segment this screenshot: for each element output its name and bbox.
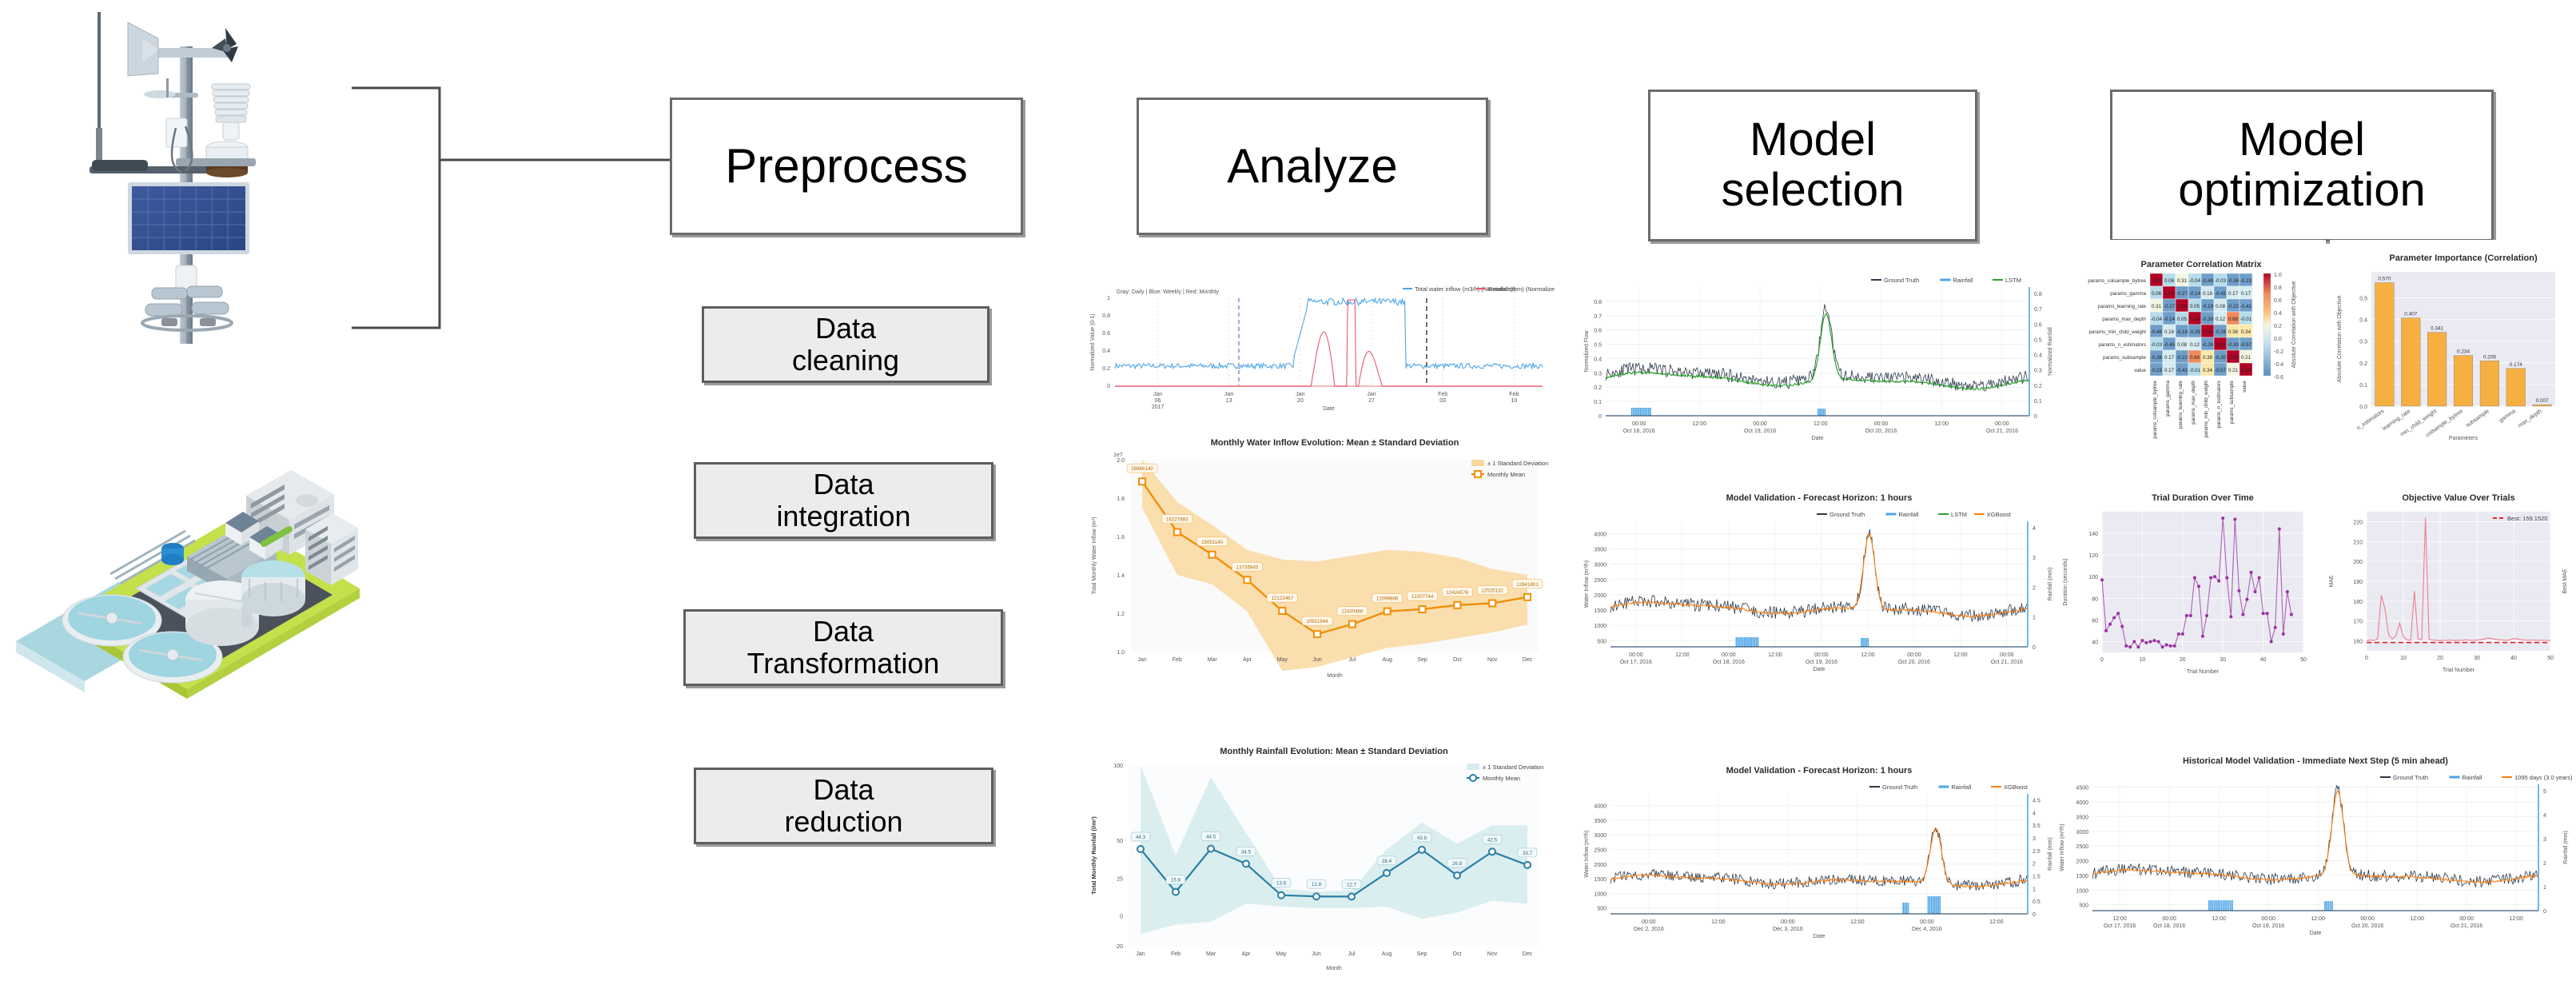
svg-text:20: 20 <box>2437 656 2443 661</box>
svg-text:-0.2: -0.2 <box>2274 349 2283 355</box>
svg-text:0.7: 0.7 <box>1594 314 1602 320</box>
svg-text:Trial Number: Trial Number <box>2443 668 2475 673</box>
svg-text:12:00: 12:00 <box>1814 421 1828 427</box>
chart-model-validation-1h-a[interactable]: Model Validation - Forecast Horizon: 1 h… <box>1579 472 2058 684</box>
svg-text:2500: 2500 <box>1594 848 1607 854</box>
svg-text:-0.39: -0.39 <box>2189 329 2201 335</box>
svg-text:190: 190 <box>2353 580 2363 585</box>
svg-text:26.8: 26.8 <box>1452 861 1463 867</box>
svg-text:0.31: 0.31 <box>2152 304 2162 309</box>
svg-text:12099886: 12099886 <box>1376 596 1399 602</box>
svg-text:-0.04: -0.04 <box>2151 317 2163 322</box>
svg-text:Apr: Apr <box>1243 657 1252 663</box>
svg-text:-0.22: -0.22 <box>2228 304 2240 309</box>
svg-text:1.4: 1.4 <box>1117 573 1125 579</box>
svg-text:Model Validation - Forecast Ho: Model Validation - Forecast Horizon: 1 h… <box>1726 493 1913 503</box>
svg-text:500: 500 <box>1597 639 1607 644</box>
svg-text:0: 0 <box>1107 384 1110 389</box>
svg-text:00:00: 00:00 <box>1629 652 1643 658</box>
svg-text:00:00: 00:00 <box>1781 919 1795 925</box>
preprocess-step-1-line2: integration <box>776 500 910 532</box>
svg-text:20: 20 <box>1297 398 1304 404</box>
svg-text:-0.36: -0.36 <box>2151 355 2163 361</box>
svg-text:Monthly Water Inflow Evolution: Monthly Water Inflow Evolution: Mean ± S… <box>1211 438 1459 448</box>
chart-model-validation-lstm[interactable]: 00.10.20.30.40.50.60.70.800.10.20.30.40.… <box>1579 252 2058 448</box>
svg-text:2017: 2017 <box>1152 405 1165 410</box>
svg-text:1000: 1000 <box>1594 891 1607 897</box>
svg-text:Model Validation - Forecast Ho: Model Validation - Forecast Horizon: 1 h… <box>1726 766 1913 776</box>
preprocess-step-data-cleaning[interactable]: Data cleaning <box>702 306 989 383</box>
svg-text:-0.30: -0.30 <box>2228 342 2240 348</box>
svg-text:Month: Month <box>1326 966 1342 971</box>
svg-text:May: May <box>1277 657 1288 663</box>
chart-objective-value-over-trials[interactable]: Objective Value Over Trials1601701801902… <box>2322 480 2574 684</box>
weather-station-image <box>48 0 320 344</box>
svg-text:12:00: 12:00 <box>2509 916 2523 922</box>
svg-text:40: 40 <box>2510 656 2517 661</box>
svg-text:-0.19: -0.19 <box>2202 304 2214 309</box>
svg-text:Rainfall (mm): Rainfall (mm) <box>2563 831 2569 864</box>
svg-text:120: 120 <box>2088 553 2098 559</box>
svg-text:Monthly Mean: Monthly Mean <box>1487 471 1525 478</box>
svg-text:Best MAE: Best MAE <box>2562 568 2568 593</box>
svg-text:1.2: 1.2 <box>1117 612 1125 617</box>
svg-text:12207744: 12207744 <box>1411 594 1434 600</box>
svg-text:Normalized Flow: Normalized Flow <box>1584 329 1590 372</box>
svg-text:Sep: Sep <box>1417 657 1427 663</box>
svg-text:10: 10 <box>2400 656 2407 661</box>
svg-text:12424576: 12424576 <box>1447 590 1469 596</box>
svg-text:0: 0 <box>1120 914 1123 919</box>
svg-text:1.6: 1.6 <box>1117 535 1125 540</box>
svg-text:50: 50 <box>1117 839 1123 844</box>
svg-text:Jul: Jul <box>1348 951 1356 957</box>
chart-historical-model-validation[interactable]: Historical Model Validation - Immediate … <box>2054 740 2574 947</box>
svg-text:200: 200 <box>2353 560 2363 565</box>
svg-text:00:00: 00:00 <box>1920 919 1934 925</box>
pipeline-diagram: Preprocess Analyze Model selection Model… <box>0 0 2576 997</box>
svg-text:1.0: 1.0 <box>1117 650 1125 656</box>
svg-text:12:00: 12:00 <box>1861 652 1875 658</box>
svg-text:12:00: 12:00 <box>1768 652 1782 658</box>
preprocess-step-1-line1: Data <box>776 469 910 500</box>
chart-normalized-overview[interactable]: Gray: Daily | Blue: Weekly | Red: Monthl… <box>1083 276 1555 416</box>
svg-text:params_learning_rate: params_learning_rate <box>2098 304 2147 309</box>
svg-text:0.8: 0.8 <box>2274 285 2282 291</box>
svg-text:12122467: 12122467 <box>1272 596 1294 601</box>
stage-box-preprocess[interactable]: Preprocess <box>670 98 1023 235</box>
svg-text:0.8: 0.8 <box>1594 300 1602 305</box>
svg-text:0.2: 0.2 <box>2034 384 2042 389</box>
svg-text:-0.23: -0.23 <box>2240 278 2252 284</box>
svg-text:0.38: 0.38 <box>2203 355 2213 361</box>
svg-text:06: 06 <box>1155 398 1161 404</box>
svg-text:Dec 2, 2016: Dec 2, 2016 <box>1634 927 1664 932</box>
svg-text:0.68: 0.68 <box>2190 355 2200 361</box>
svg-text:180: 180 <box>2353 600 2363 605</box>
svg-text:4: 4 <box>2033 526 2036 532</box>
svg-text:Water Inflow (m³/h): Water Inflow (m³/h) <box>2060 824 2065 871</box>
svg-text:2.5: 2.5 <box>2033 849 2040 855</box>
svg-text:12:00: 12:00 <box>2112 916 2127 922</box>
svg-text:Date: Date <box>1814 934 1825 939</box>
svg-text:Apr: Apr <box>1242 951 1252 957</box>
svg-text:Absolute Correlation with Obje: Absolute Correlation with Objective <box>2337 295 2343 382</box>
svg-text:params_subsample: params_subsample <box>2229 380 2235 424</box>
svg-text:3: 3 <box>2033 556 2036 561</box>
stage-box-model-optimization[interactable]: Model optimization <box>2110 90 2494 241</box>
svg-text:Oct 21, 2016: Oct 21, 2016 <box>2451 923 2482 929</box>
svg-text:-0.6: -0.6 <box>2274 375 2283 381</box>
svg-text:Feb: Feb <box>1438 392 1447 397</box>
svg-text:12:00: 12:00 <box>1953 652 1968 658</box>
svg-text:0: 0 <box>2365 656 2368 661</box>
svg-text:1.8: 1.8 <box>1117 497 1125 502</box>
svg-text:3500: 3500 <box>1594 547 1607 552</box>
svg-text:0.4: 0.4 <box>1102 349 1110 354</box>
svg-text:Oct 20, 2016: Oct 20, 2016 <box>1865 429 1897 434</box>
svg-text:-0.41: -0.41 <box>2240 304 2252 309</box>
svg-text:50: 50 <box>2300 657 2307 663</box>
svg-text:2: 2 <box>2033 585 2036 591</box>
svg-text:-0.01: -0.01 <box>2189 368 2201 373</box>
svg-text:Rainfall: Rainfall <box>1951 784 1971 791</box>
stage-label-analyze: Analyze <box>1227 141 1397 193</box>
svg-text:0.4: 0.4 <box>2359 318 2367 324</box>
svg-text:Oct: Oct <box>1453 657 1462 663</box>
svg-text:0.31: 0.31 <box>2177 278 2188 284</box>
svg-text:0.407: 0.407 <box>2404 312 2417 317</box>
svg-text:25: 25 <box>1117 876 1123 882</box>
svg-text:0.17: 0.17 <box>2228 291 2239 297</box>
svg-text:Water Inflow (m³/h): Water Inflow (m³/h) <box>1584 830 1590 877</box>
svg-text:0.4: 0.4 <box>1594 357 1602 362</box>
svg-text:4: 4 <box>2543 813 2546 819</box>
svg-text:33.7: 33.7 <box>1523 851 1533 856</box>
svg-text:0.209: 0.209 <box>2483 354 2496 360</box>
svg-text:-0.39: -0.39 <box>2202 317 2214 322</box>
svg-text:0.234: 0.234 <box>2457 349 2470 355</box>
svg-text:28.4: 28.4 <box>1382 859 1392 864</box>
svg-text:60: 60 <box>2092 618 2098 624</box>
svg-text:00:00: 00:00 <box>2162 916 2176 922</box>
svg-text:1.0: 1.0 <box>2274 273 2282 278</box>
svg-text:May: May <box>1276 951 1287 957</box>
svg-text:30: 30 <box>2220 657 2226 663</box>
svg-text:-0.14: -0.14 <box>2164 317 2176 322</box>
svg-text:4: 4 <box>2033 811 2036 816</box>
svg-text:12:00: 12:00 <box>1850 919 1865 925</box>
svg-text:0.05: 0.05 <box>2190 304 2200 309</box>
svg-text:0.3: 0.3 <box>1594 371 1602 377</box>
svg-text:0.6: 0.6 <box>2274 298 2282 304</box>
svg-text:00:00: 00:00 <box>1907 652 1921 658</box>
svg-text:Oct 19, 2016: Oct 19, 2016 <box>1806 660 1837 665</box>
svg-text:-0.03: -0.03 <box>2215 278 2227 284</box>
svg-text:Rainfall: Rainfall <box>1953 277 1973 284</box>
svg-text:0.4: 0.4 <box>2274 311 2282 317</box>
svg-text:1095 days (3.0 years): 1095 days (3.0 years) <box>2514 774 2573 781</box>
svg-text:1: 1 <box>1107 296 1110 301</box>
svg-text:-0.27: -0.27 <box>2176 291 2188 297</box>
svg-text:1000: 1000 <box>1594 624 1607 629</box>
svg-text:Jan: Jan <box>1224 392 1233 397</box>
preprocess-step-0-line2: cleaning <box>792 345 899 377</box>
svg-text:Jan: Jan <box>1296 392 1304 397</box>
svg-text:4.5: 4.5 <box>2033 799 2040 804</box>
svg-text:1500: 1500 <box>1594 608 1607 614</box>
svg-text:params_learning_rate: params_learning_rate <box>2178 380 2184 429</box>
svg-text:0.6: 0.6 <box>1102 331 1110 337</box>
stage-label-model-selection-line1: Model <box>1722 115 1905 166</box>
svg-text:0.12: 0.12 <box>2216 317 2226 322</box>
svg-text:3000: 3000 <box>1594 833 1607 839</box>
svg-text:1000: 1000 <box>2076 888 2088 894</box>
svg-text:2: 2 <box>2543 861 2546 867</box>
chart-monthly-rainfall[interactable]: Monthly Rainfall Evolution: Mean ± Stand… <box>1083 740 1555 979</box>
svg-text:1.00: 1.00 <box>2203 329 2213 335</box>
preprocess-step-data-transformation[interactable]: Data Transformation <box>683 609 1003 686</box>
svg-text:Trial Number: Trial Number <box>2187 669 2220 675</box>
svg-text:100: 100 <box>1113 764 1123 769</box>
svg-text:Duration (seconds): Duration (seconds) <box>2063 558 2068 605</box>
svg-text:Ground Truth: Ground Truth <box>1882 784 1917 791</box>
svg-text:50: 50 <box>2547 656 2554 661</box>
svg-text:params_gamma: params_gamma <box>2165 380 2171 416</box>
svg-text:00:00: 00:00 <box>1642 919 1656 925</box>
svg-text:0.570: 0.570 <box>2378 277 2391 282</box>
svg-text:12:00: 12:00 <box>1989 919 2004 925</box>
svg-text:max_depth: max_depth <box>2517 409 2542 429</box>
svg-text:-0.41: -0.41 <box>2176 368 2188 373</box>
svg-text:params_n_estimators: params_n_estimators <box>2099 342 2147 348</box>
svg-text:27: 27 <box>1368 398 1375 404</box>
svg-text:LSTM: LSTM <box>1951 511 1967 518</box>
svg-text:Oct 19, 2016: Oct 19, 2016 <box>2252 923 2284 929</box>
svg-text:44.5: 44.5 <box>1206 835 1216 840</box>
svg-text:0.2: 0.2 <box>2274 324 2282 329</box>
svg-text:4500: 4500 <box>2076 786 2088 792</box>
svg-text:1e7: 1e7 <box>1113 453 1123 458</box>
svg-text:0.6: 0.6 <box>1594 329 1602 334</box>
svg-text:2.0: 2.0 <box>1117 458 1125 464</box>
svg-text:Oct 19, 2016: Oct 19, 2016 <box>1744 429 1776 434</box>
svg-text:Absolute Correlation with Obje: Absolute Correlation with Objective <box>2291 281 2297 368</box>
svg-text:1.00: 1.00 <box>2241 368 2252 373</box>
stage-label-model-optimization-line1: Model <box>2178 115 2425 166</box>
svg-text:0.8: 0.8 <box>2034 292 2042 297</box>
svg-text:0.5: 0.5 <box>2034 337 2042 343</box>
svg-text:Dec: Dec <box>1523 657 1533 663</box>
svg-text:Oct 18, 2016: Oct 18, 2016 <box>1713 660 1745 665</box>
svg-text:100: 100 <box>2088 575 2098 580</box>
svg-text:Rainfall: Rainfall <box>1898 511 1918 518</box>
svg-text:Feb: Feb <box>1173 657 1182 663</box>
svg-text:3500: 3500 <box>1594 819 1607 824</box>
svg-text:0.17: 0.17 <box>2241 291 2252 297</box>
svg-text:Oct 17, 2016: Oct 17, 2016 <box>1620 660 1652 665</box>
svg-text:13: 13 <box>1226 398 1232 404</box>
svg-text:220: 220 <box>2353 520 2363 525</box>
svg-text:4000: 4000 <box>1594 804 1607 810</box>
svg-text:Dec: Dec <box>1523 951 1533 957</box>
svg-text:Date: Date <box>1323 406 1335 412</box>
svg-text:43.8: 43.8 <box>1417 835 1427 841</box>
wastewater-treatment-plant-image <box>16 432 360 728</box>
svg-text:2000: 2000 <box>1594 863 1607 868</box>
svg-text:0.3: 0.3 <box>2034 369 2042 374</box>
svg-text:0.05: 0.05 <box>2177 317 2188 322</box>
svg-text:Mar: Mar <box>1208 657 1218 663</box>
svg-text:-0.36: -0.36 <box>2228 278 2240 284</box>
svg-text:0.0: 0.0 <box>2359 405 2367 410</box>
svg-text:1.00: 1.00 <box>2152 278 2162 284</box>
svg-text:gamma: gamma <box>2498 409 2517 424</box>
svg-text:params_min_child_weight: params_min_child_weight <box>2204 381 2209 438</box>
svg-text:-0.57: -0.57 <box>2215 368 2227 373</box>
svg-text:1.00: 1.00 <box>2177 304 2188 309</box>
svg-text:1500: 1500 <box>1594 877 1607 883</box>
svg-text:params_min_child_weight: params_min_child_weight <box>2088 329 2146 335</box>
svg-text:30: 30 <box>2474 656 2480 661</box>
svg-text:10: 10 <box>2140 657 2146 663</box>
svg-text:-20: -20 <box>1115 944 1123 950</box>
chart-trial-duration-over-time[interactable]: Trial Duration Over Time4060801001201400… <box>2054 480 2318 684</box>
svg-text:16227883: 16227883 <box>1166 517 1188 523</box>
svg-text:-0.45: -0.45 <box>2164 342 2176 348</box>
svg-text:-0.01: -0.01 <box>2240 317 2252 322</box>
svg-text:2500: 2500 <box>1594 578 1607 584</box>
svg-text:Parameter Importance (Correlat: Parameter Importance (Correlation) <box>2389 253 2538 263</box>
chart-parameter-importance[interactable]: Parameter Importance (Correlation)0.00.1… <box>2330 240 2570 448</box>
stage-label-preprocess: Preprocess <box>725 141 967 193</box>
svg-text:± 1 Standard Deviation: ± 1 Standard Deviation <box>1483 764 1543 771</box>
svg-text:0.17: 0.17 <box>2164 355 2175 361</box>
svg-text:1: 1 <box>2543 885 2546 891</box>
svg-text:0: 0 <box>2100 657 2104 663</box>
svg-text:0: 0 <box>1599 414 1602 420</box>
svg-text:-0.03: -0.03 <box>2151 342 2163 348</box>
svg-text:0.17: 0.17 <box>2164 368 2175 373</box>
svg-text:18866140: 18866140 <box>1131 466 1153 472</box>
svg-text:-0.19: -0.19 <box>2176 329 2188 335</box>
svg-text:Nov: Nov <box>1487 657 1498 663</box>
svg-text:0.21: 0.21 <box>2228 368 2239 373</box>
svg-text:-0.26: -0.26 <box>2202 342 2214 348</box>
svg-text:2500: 2500 <box>2076 844 2088 850</box>
svg-text:0.5: 0.5 <box>1594 343 1602 349</box>
connector-lines <box>352 48 671 608</box>
svg-text:13735945: 13735945 <box>1236 564 1259 570</box>
svg-text:0.5: 0.5 <box>2033 899 2040 905</box>
svg-text:00:00: 00:00 <box>2000 652 2014 658</box>
svg-text:3000: 3000 <box>2076 830 2088 835</box>
svg-text:00:00: 00:00 <box>1874 421 1889 427</box>
svg-text:Date: Date <box>2310 931 2322 936</box>
svg-text:Jan: Jan <box>1137 657 1146 663</box>
svg-text:Total Monthly Rainfall (l/m²): Total Monthly Rainfall (l/m²) <box>1090 816 1097 895</box>
svg-text:2000: 2000 <box>2076 859 2088 865</box>
stage-label-model-selection-line2: selection <box>1722 166 1905 216</box>
svg-text:1: 1 <box>2033 616 2036 621</box>
svg-text:Aug: Aug <box>1382 951 1392 957</box>
svg-text:Oct 21, 2016: Oct 21, 2016 <box>1991 660 2023 665</box>
preprocess-step-data-integration[interactable]: Data integration <box>694 462 993 539</box>
svg-text:params_n_estimators: params_n_estimators <box>2216 381 2222 429</box>
stage-box-model-selection[interactable]: Model selection <box>1648 90 1977 241</box>
preprocess-step-2-line1: Data <box>747 616 940 648</box>
svg-text:140: 140 <box>2088 532 2098 537</box>
svg-text:Oct 20, 2016: Oct 20, 2016 <box>2351 923 2383 929</box>
svg-text:-0.22: -0.22 <box>2176 355 2188 361</box>
svg-text:0.08: 0.08 <box>2177 342 2188 348</box>
svg-text:160: 160 <box>2353 640 2363 645</box>
preprocess-step-0-line1: Data <box>792 313 899 345</box>
svg-text:3.5: 3.5 <box>2033 824 2040 829</box>
svg-text:0.2: 0.2 <box>1594 385 1602 391</box>
preprocess-step-data-reduction[interactable]: Data reduction <box>694 768 993 844</box>
svg-text:170: 170 <box>2353 620 2363 625</box>
svg-text:3500: 3500 <box>2076 815 2088 820</box>
svg-text:Monthly Rainfall Evolution: Me: Monthly Rainfall Evolution: Mean ± Stand… <box>1220 747 1448 756</box>
svg-text:80: 80 <box>2092 596 2098 602</box>
svg-text:Oct 18, 2016: Oct 18, 2016 <box>1623 429 1655 434</box>
svg-text:XGBoost: XGBoost <box>2004 784 2029 791</box>
svg-text:Date: Date <box>1814 667 1825 672</box>
svg-text:-0.26: -0.26 <box>2215 329 2227 335</box>
svg-text:LSTM: LSTM <box>2005 277 2021 284</box>
svg-text:4000: 4000 <box>1594 532 1607 537</box>
svg-text:Parameter Correlation Matrix: Parameter Correlation Matrix <box>2141 260 2263 269</box>
svg-text:-0.48: -0.48 <box>2151 329 2163 335</box>
chart-model-validation-1h-b[interactable]: Model Validation - Forecast Horizon: 1 h… <box>1579 748 2058 947</box>
svg-text:2000: 2000 <box>1594 593 1607 599</box>
svg-text:15.8: 15.8 <box>1171 878 1181 883</box>
svg-text:00:00: 00:00 <box>1632 421 1646 427</box>
svg-text:-0.04: -0.04 <box>2189 278 2201 284</box>
svg-text:00:00: 00:00 <box>2459 916 2474 922</box>
svg-text:Total Monthly Water Inflow (m³: Total Monthly Water Inflow (m³) <box>1092 517 1097 595</box>
svg-text:-0.57: -0.57 <box>2240 342 2252 348</box>
svg-text:Objective Value Over Trials: Objective Value Over Trials <box>2402 493 2514 503</box>
svg-text:-0.48: -0.48 <box>2202 278 2214 284</box>
svg-text:3000: 3000 <box>1594 563 1607 568</box>
stage-box-analyze[interactable]: Analyze <box>1137 98 1488 235</box>
svg-text:0.16: 0.16 <box>2203 291 2213 297</box>
svg-text:0.3: 0.3 <box>2359 340 2367 345</box>
svg-text:11430466: 11430466 <box>1341 609 1364 615</box>
svg-text:Oct: Oct <box>1453 951 1462 957</box>
svg-text:0.174: 0.174 <box>2510 362 2522 368</box>
svg-text:Jan: Jan <box>1136 951 1145 957</box>
svg-text:0.1: 0.1 <box>2359 383 2367 389</box>
svg-text:20: 20 <box>2180 657 2186 663</box>
svg-text:5: 5 <box>2543 789 2546 795</box>
chart-parameter-correlation-matrix[interactable]: Parameter Correlation Matrixparams_colsa… <box>2054 240 2326 448</box>
chart-monthly-water-inflow[interactable]: Monthly Water Inflow Evolution: Mean ± S… <box>1083 428 1555 692</box>
svg-text:-0.4: -0.4 <box>2274 362 2283 368</box>
svg-text:1: 1 <box>2033 887 2036 892</box>
svg-text:0.21: 0.21 <box>2241 355 2252 361</box>
svg-text:Best: 159.1520: Best: 159.1520 <box>2507 515 2547 522</box>
svg-text:0.4: 0.4 <box>2034 353 2042 359</box>
svg-text:params_subsample: params_subsample <box>2103 355 2147 361</box>
svg-text:12:00: 12:00 <box>2410 916 2424 922</box>
svg-text:0.8: 0.8 <box>1102 313 1110 319</box>
svg-text:0.007: 0.007 <box>2536 398 2549 404</box>
svg-text:03: 03 <box>1439 398 1446 404</box>
svg-text:12:00: 12:00 <box>1711 919 1726 925</box>
